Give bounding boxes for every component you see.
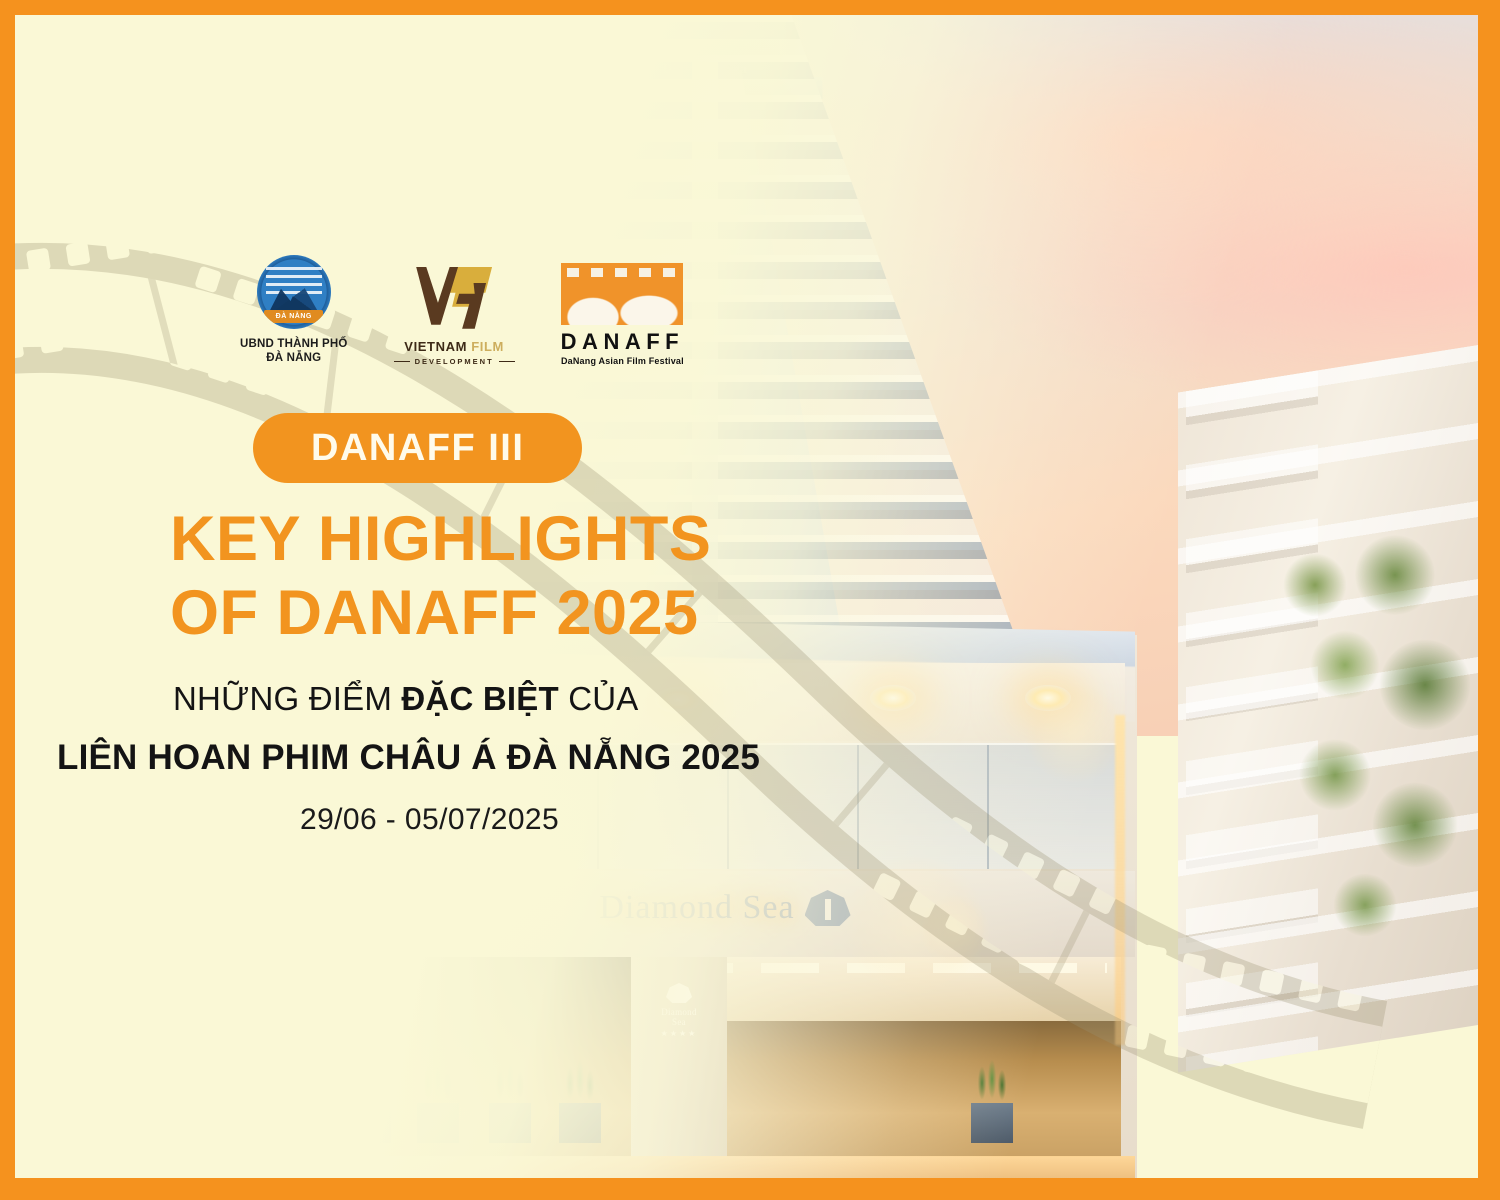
subtitle-line-1: NHỮNG ĐIỂM ĐẶC BIỆT CỦA: [173, 680, 638, 718]
vf-caption-text: DEVELOPMENT: [415, 357, 494, 366]
vf-word-film: FILM: [471, 339, 504, 354]
page-title: KEY HIGHLIGHTS OF DANAFF 2025: [170, 502, 711, 651]
rule-right: [499, 361, 515, 362]
vf-word-vietnam: VIETNAM: [404, 339, 467, 354]
logo-caption-line2: ĐÀ NẴNG: [240, 351, 348, 365]
danaff-wordmark: DANAFF: [561, 331, 684, 353]
logo-ubnd-danang: ĐÀ NẴNG UBND THÀNH PHỐ ĐÀ NẴNG: [240, 255, 348, 366]
danang-city-emblem-icon: ĐÀ NẴNG: [257, 255, 331, 329]
title-line-2: OF DANAFF 2025: [170, 576, 711, 650]
danaff-filmstrip-mountains-icon: [561, 263, 683, 325]
logo-vietnam-film-development: VIETNAM FILM DEVELOPMENT: [394, 265, 515, 366]
danaff-perforations: [567, 268, 677, 277]
vf-monogram-icon: [414, 265, 494, 331]
logo-caption: UBND THÀNH PHỐ ĐÀ NẴNG: [240, 337, 348, 366]
danaff-mountains: [561, 283, 683, 325]
danaff-caption: DaNang Asian Film Festival: [561, 356, 684, 366]
subtitle-part-2: CỦA: [559, 680, 639, 717]
text-block: ĐÀ NẴNG UBND THÀNH PHỐ ĐÀ NẴNG: [15, 15, 775, 1178]
logo-caption-line1: UBND THÀNH PHỐ: [240, 337, 348, 351]
partner-logos: ĐÀ NẴNG UBND THÀNH PHỐ ĐÀ NẴNG: [240, 255, 684, 366]
festival-dates: 29/06 - 05/07/2025: [300, 803, 559, 837]
logo-danaff: DANAFF DaNang Asian Film Festival: [561, 263, 684, 366]
subtitle-part-1: NHỮNG ĐIỂM: [173, 680, 401, 717]
subtitle-emphasis: ĐẶC BIỆT: [401, 680, 558, 717]
rule-left: [394, 361, 410, 362]
edition-badge: DANAFF III: [253, 413, 582, 483]
title-line-1: KEY HIGHLIGHTS: [170, 502, 711, 576]
subtitle-line-2: LIÊN HOAN PHIM CHÂU Á ĐÀ NẴNG 2025: [57, 738, 760, 778]
poster: Diamond Sea Diamond Sea: [0, 0, 1500, 1200]
logo-wordmark: VIETNAM FILM: [394, 339, 515, 354]
emblem-band-text: ĐÀ NẴNG: [264, 310, 323, 323]
poster-canvas: Diamond Sea Diamond Sea: [15, 15, 1478, 1178]
vf-letter-v: [416, 267, 458, 325]
logo-sub-caption: DEVELOPMENT: [394, 357, 515, 366]
